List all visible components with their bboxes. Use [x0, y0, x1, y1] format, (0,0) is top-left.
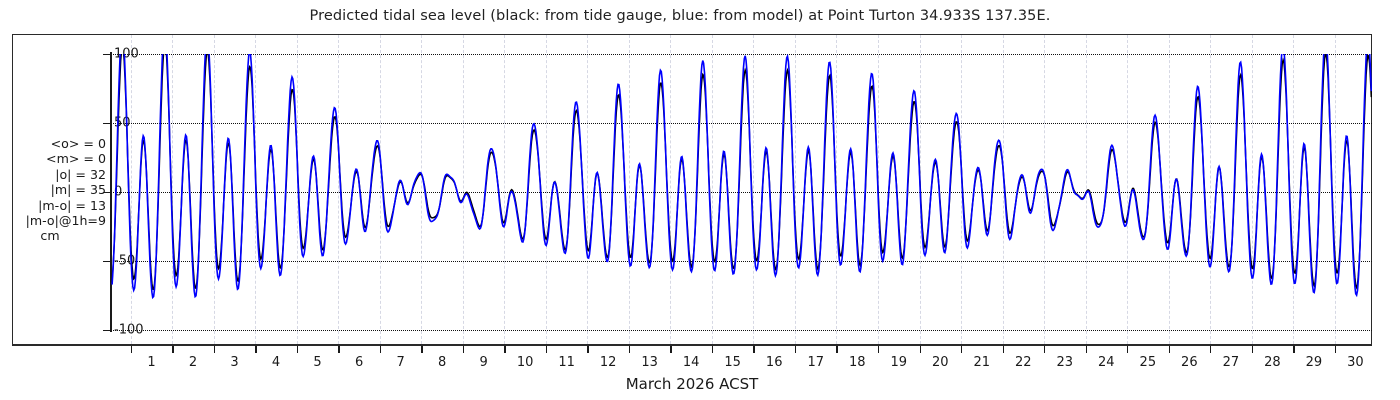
x-tick-label-day-29: 29	[1306, 355, 1323, 370]
x-tick-label-day-21: 21	[973, 355, 990, 370]
x-tick-day-24	[1086, 346, 1087, 353]
x-tick-day-13	[629, 346, 630, 353]
x-tick-label-day-1: 1	[147, 355, 155, 370]
x-tick-label-day-25: 25	[1140, 355, 1157, 370]
x-tick-day-22	[1003, 346, 1004, 353]
y-tick-100	[103, 54, 110, 55]
x-tick-day-18	[836, 346, 837, 353]
stat-diff: |m-o| = 13	[8, 198, 106, 213]
gridline-y--100	[110, 330, 1372, 331]
stat-amp-model: |m| = 35	[8, 182, 106, 197]
page-title: Predicted tidal sea level (black: from t…	[0, 8, 1360, 24]
x-tick-day-29	[1293, 346, 1294, 353]
stat-units: cm	[8, 228, 106, 243]
stat-amp-obs: |o| = 32	[8, 167, 106, 182]
x-tick-day-3	[214, 346, 215, 353]
x-tick-day-30	[1335, 346, 1336, 353]
x-tick-day-26	[1169, 346, 1170, 353]
stat-mean-model: <m> = 0	[8, 151, 106, 166]
x-tick-day-27	[1210, 346, 1211, 353]
x-tick-label-day-6: 6	[355, 355, 363, 370]
y-tick-50	[103, 123, 110, 124]
x-tick-label-day-15: 15	[724, 355, 741, 370]
x-tick-label-day-14: 14	[683, 355, 700, 370]
x-tick-label-day-2: 2	[189, 355, 197, 370]
x-tick-label-day-4: 4	[272, 355, 280, 370]
x-tick-label-day-26: 26	[1181, 355, 1198, 370]
x-tick-day-8	[421, 346, 422, 353]
x-tick-day-16	[753, 346, 754, 353]
x-tick-day-12	[587, 346, 588, 353]
x-tick-day-17	[795, 346, 796, 353]
x-tick-day-14	[670, 346, 671, 353]
x-tick-day-4	[255, 346, 256, 353]
chart-plot-area	[110, 54, 1372, 330]
x-axis-title: March 2026 ACST	[0, 375, 1384, 393]
x-tick-day-11	[546, 346, 547, 353]
x-tick-label-day-30: 30	[1347, 355, 1364, 370]
x-tick-day-23	[1044, 346, 1045, 353]
x-tick-day-20	[920, 346, 921, 353]
series-line-model	[112, 54, 1371, 297]
x-tick-label-day-11: 11	[558, 355, 575, 370]
x-tick-label-day-20: 20	[932, 355, 949, 370]
x-tick-label-day-16: 16	[766, 355, 783, 370]
x-tick-label-day-28: 28	[1264, 355, 1281, 370]
x-tick-label-day-19: 19	[890, 355, 907, 370]
x-tick-label-day-13: 13	[641, 355, 658, 370]
x-tick-day-15	[712, 346, 713, 353]
y-tick--100	[103, 330, 110, 331]
x-tick-day-25	[1127, 346, 1128, 353]
x-tick-day-5	[297, 346, 298, 353]
x-tick-day-2	[172, 346, 173, 353]
tidal-series-svg	[110, 54, 1372, 330]
x-tick-label-day-10: 10	[517, 355, 534, 370]
stat-diff-1h: |m-o|@1h=9	[8, 213, 106, 228]
x-tick-label-day-7: 7	[396, 355, 404, 370]
x-tick-day-28	[1252, 346, 1253, 353]
x-tick-label-day-23: 23	[1057, 355, 1074, 370]
x-tick-label-day-17: 17	[807, 355, 824, 370]
stat-mean-obs: <o> = 0	[8, 136, 106, 151]
x-tick-day-6	[338, 346, 339, 353]
x-tick-day-19	[878, 346, 879, 353]
x-tick-label-day-9: 9	[479, 355, 487, 370]
x-tick-label-day-22: 22	[1015, 355, 1032, 370]
x-tick-label-day-3: 3	[230, 355, 238, 370]
x-tick-label-day-24: 24	[1098, 355, 1115, 370]
x-tick-label-day-12: 12	[600, 355, 617, 370]
x-tick-day-10	[504, 346, 505, 353]
x-tick-label-day-18: 18	[849, 355, 866, 370]
x-tick-day-1	[131, 346, 132, 353]
y-tick--50	[103, 261, 110, 262]
x-tick-day-21	[961, 346, 962, 353]
x-tick-day-9	[463, 346, 464, 353]
x-tick-day-7	[380, 346, 381, 353]
statistics-block: <o> = 0 <m> = 0 |o| = 32 |m| = 35 |m-o| …	[8, 136, 106, 244]
x-tick-label-day-5: 5	[313, 355, 321, 370]
x-tick-label-day-27: 27	[1223, 355, 1240, 370]
x-tick-label-day-8: 8	[438, 355, 446, 370]
